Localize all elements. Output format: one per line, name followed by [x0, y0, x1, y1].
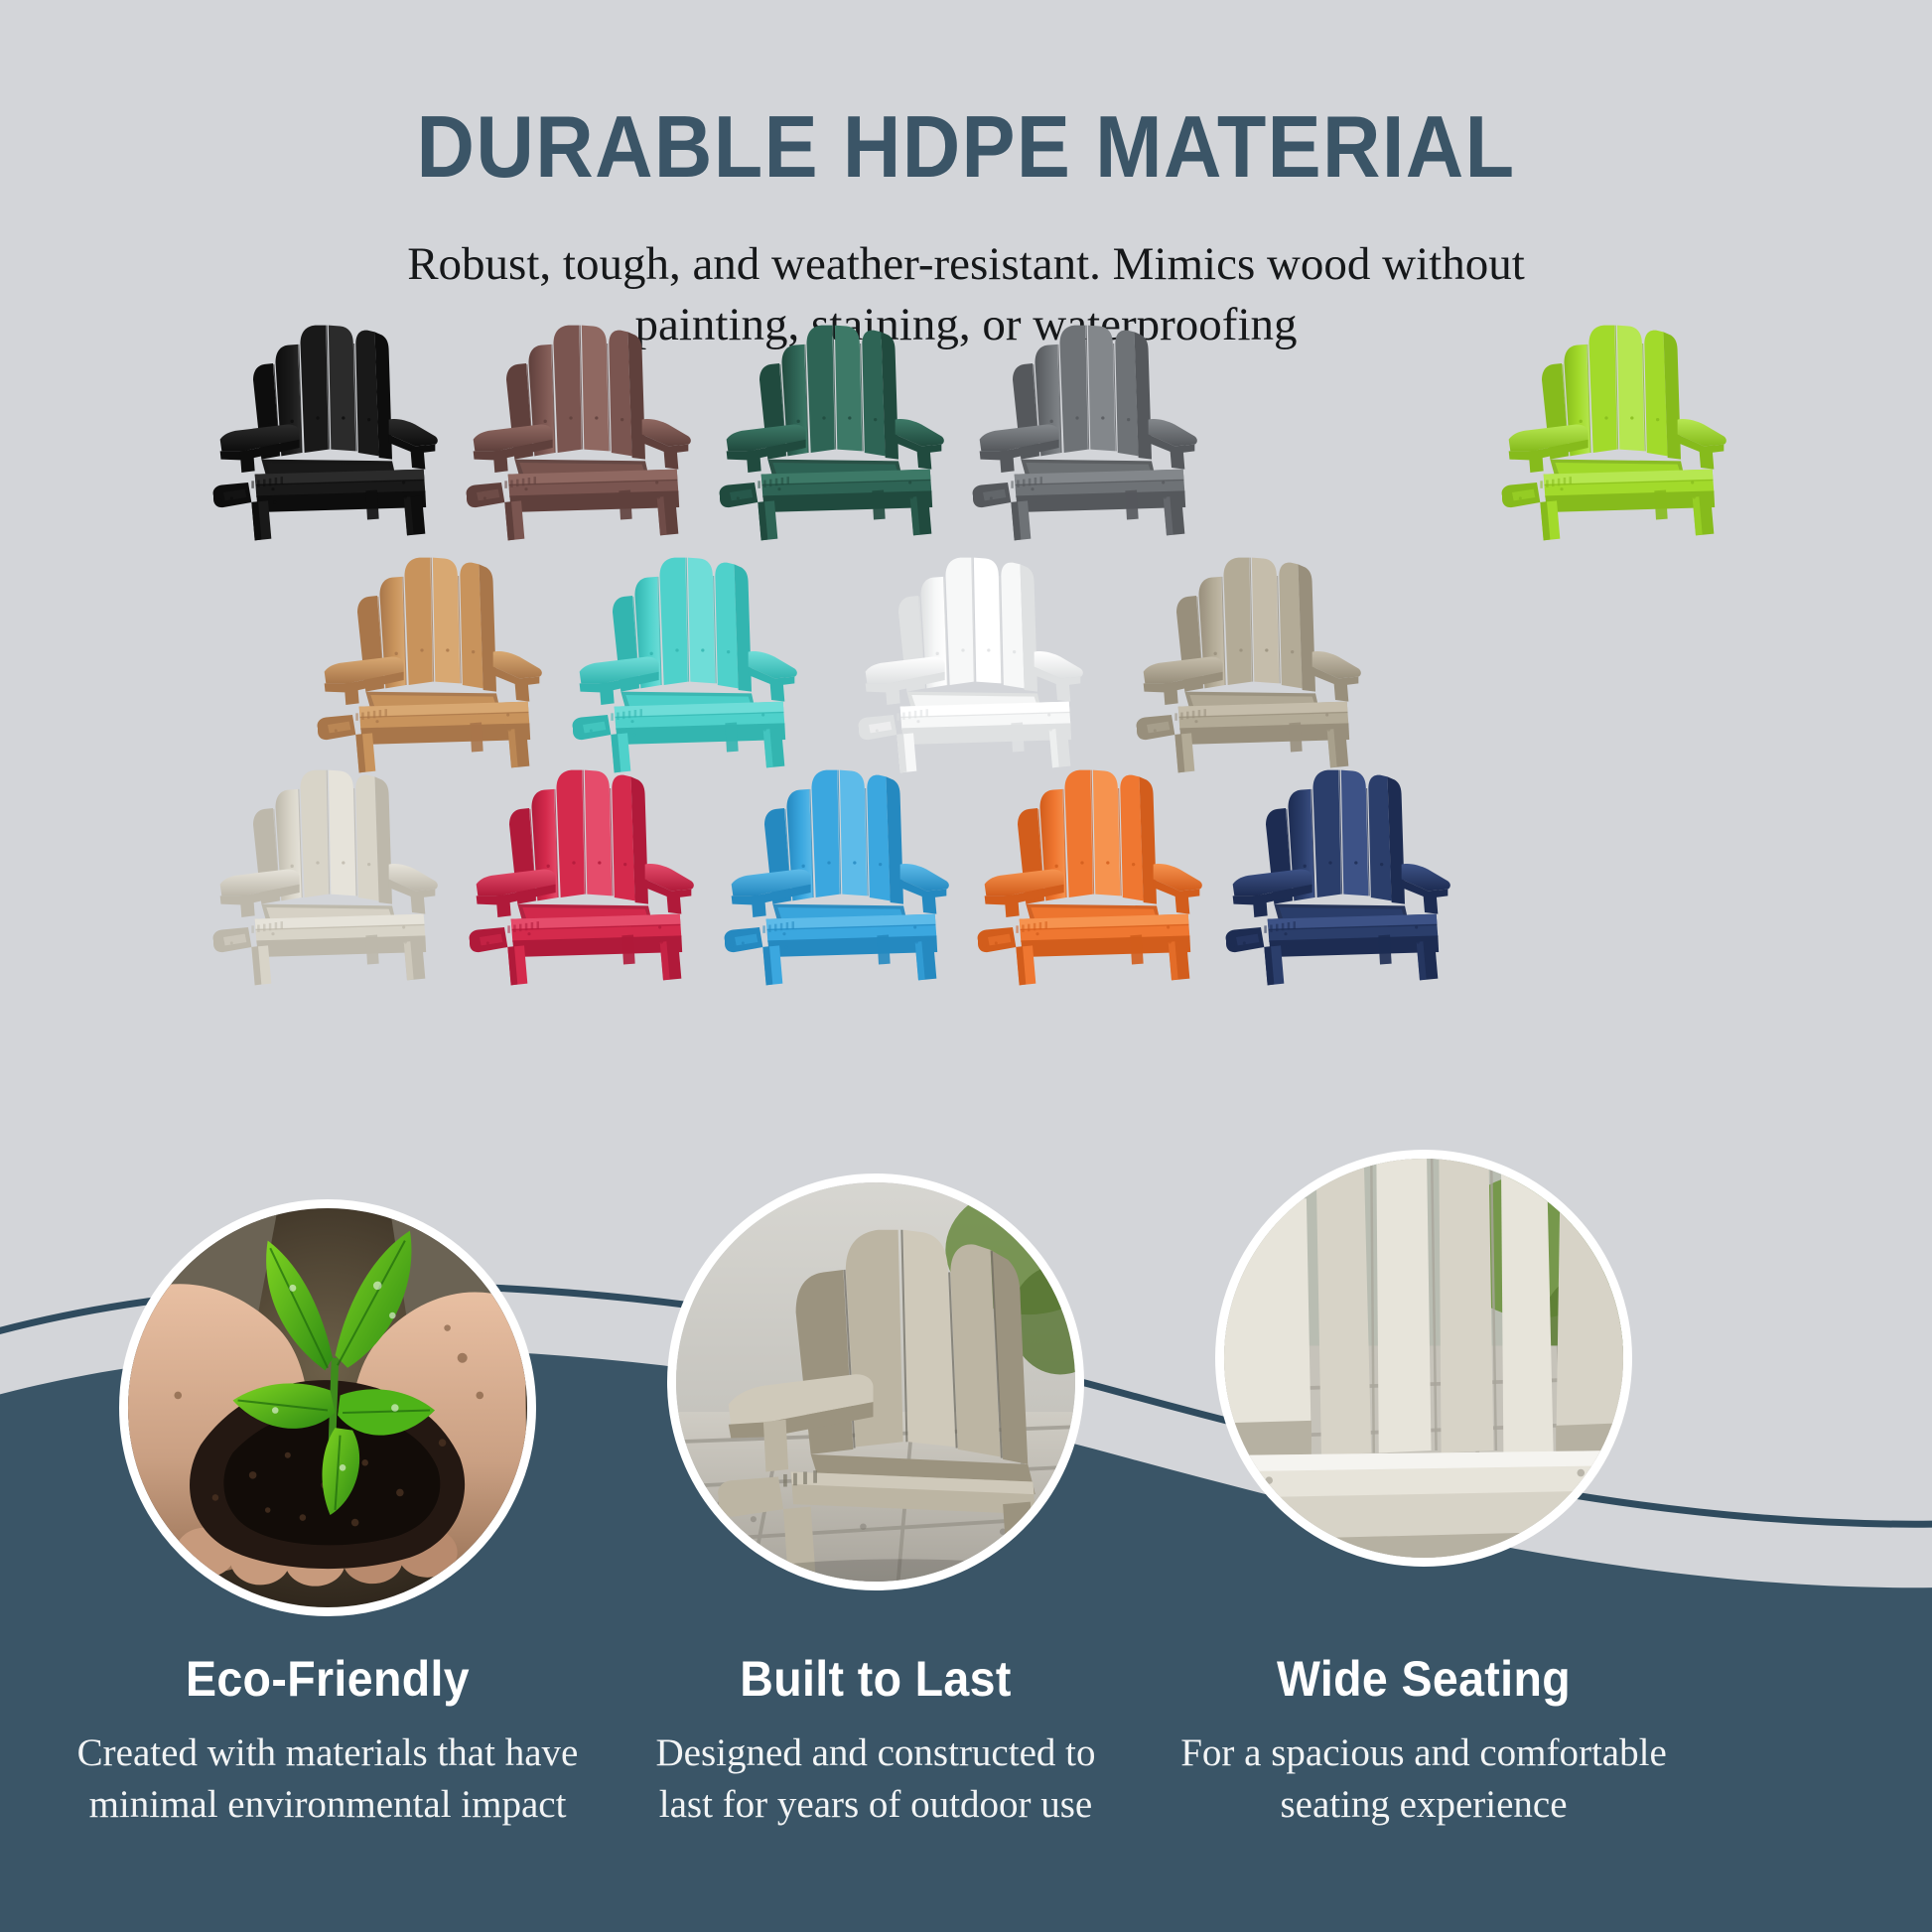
feature-text-built-to-last: Built to LastDesigned and constructed to…: [588, 1650, 1164, 1831]
feature-text-wide-seating: Wide SeatingFor a spacious and comfortab…: [1136, 1650, 1712, 1831]
feature-heading-built-to-last: Built to Last: [608, 1650, 1143, 1708]
chair-seat-front-rail: [1268, 914, 1440, 957]
feature-photo-built-to-last: [667, 1173, 1084, 1590]
feature-desc-line-1: For a spacious and comfortable: [1136, 1727, 1712, 1779]
chair-seat-front-rail: [1015, 470, 1185, 512]
chair-armrest-right: [1402, 864, 1450, 914]
feature-desc-eco-friendly: Created with materials that haveminimal …: [40, 1727, 616, 1831]
feature-text-eco-friendly: Eco-FriendlyCreated with materials that …: [40, 1650, 616, 1831]
feature-photo-wide-seating: [1215, 1150, 1632, 1567]
chair-seat-front-rail: [508, 470, 679, 512]
feature-desc-wide-seating: For a spacious and comfortableseating ex…: [1136, 1727, 1712, 1831]
feature-desc-line-1: Created with materials that have: [40, 1727, 616, 1779]
chair-seat-front-rail: [1544, 470, 1716, 512]
chair-armrest-right: [749, 651, 797, 702]
feature-desc-line-1: Designed and constructed to: [588, 1727, 1164, 1779]
chair-swatch-gray[interactable]: [908, 294, 1246, 542]
feature-desc-line-2: last for years of outdoor use: [588, 1779, 1164, 1831]
chair-seat-front-rail: [511, 914, 682, 957]
chair-swatch-lime-green[interactable]: [1438, 294, 1775, 542]
chair-armrest-right: [1149, 419, 1197, 470]
chair-armrest-right: [1312, 651, 1361, 702]
feature-desc-line-2: minimal environmental impact: [40, 1779, 616, 1831]
chair-graphic: [1438, 294, 1775, 542]
chair-graphic: [1072, 526, 1410, 774]
feature-heading-wide-seating: Wide Seating: [1156, 1650, 1691, 1708]
feature-heading-eco-friendly: Eco-Friendly: [60, 1650, 595, 1708]
seedling-photo-art: [128, 1208, 527, 1607]
wide-seat-photo-art: [1224, 1159, 1623, 1558]
chair-swatch-khaki[interactable]: [1072, 526, 1410, 774]
infographic-canvas: DURABLE HDPE MATERIAL Robust, tough, and…: [0, 0, 1932, 1932]
chair-armrest-right: [1678, 419, 1726, 470]
feature-desc-line-2: seating experience: [1136, 1779, 1712, 1831]
chair-graphic: [908, 294, 1246, 542]
chair-seat-front-rail: [761, 470, 932, 512]
chair-seat-front-rail: [255, 470, 427, 512]
photo-hands-holding-seedling-in-soil: [128, 1208, 527, 1607]
chair-seat-front-rail: [766, 914, 937, 957]
feature-photo-eco-friendly: [119, 1199, 536, 1616]
photo-ivory-adirondack-chair-wide-seat: [1224, 1159, 1623, 1558]
chair-seat-front-rail: [255, 914, 427, 957]
chair-graphic: [1162, 739, 1499, 987]
chair-photo-art: [676, 1182, 1075, 1582]
feature-desc-built-to-last: Designed and constructed tolast for year…: [588, 1727, 1164, 1831]
chair-swatch-navy[interactable]: [1162, 739, 1499, 987]
photo-khaki-adirondack-chair-on-patio: [676, 1182, 1075, 1582]
